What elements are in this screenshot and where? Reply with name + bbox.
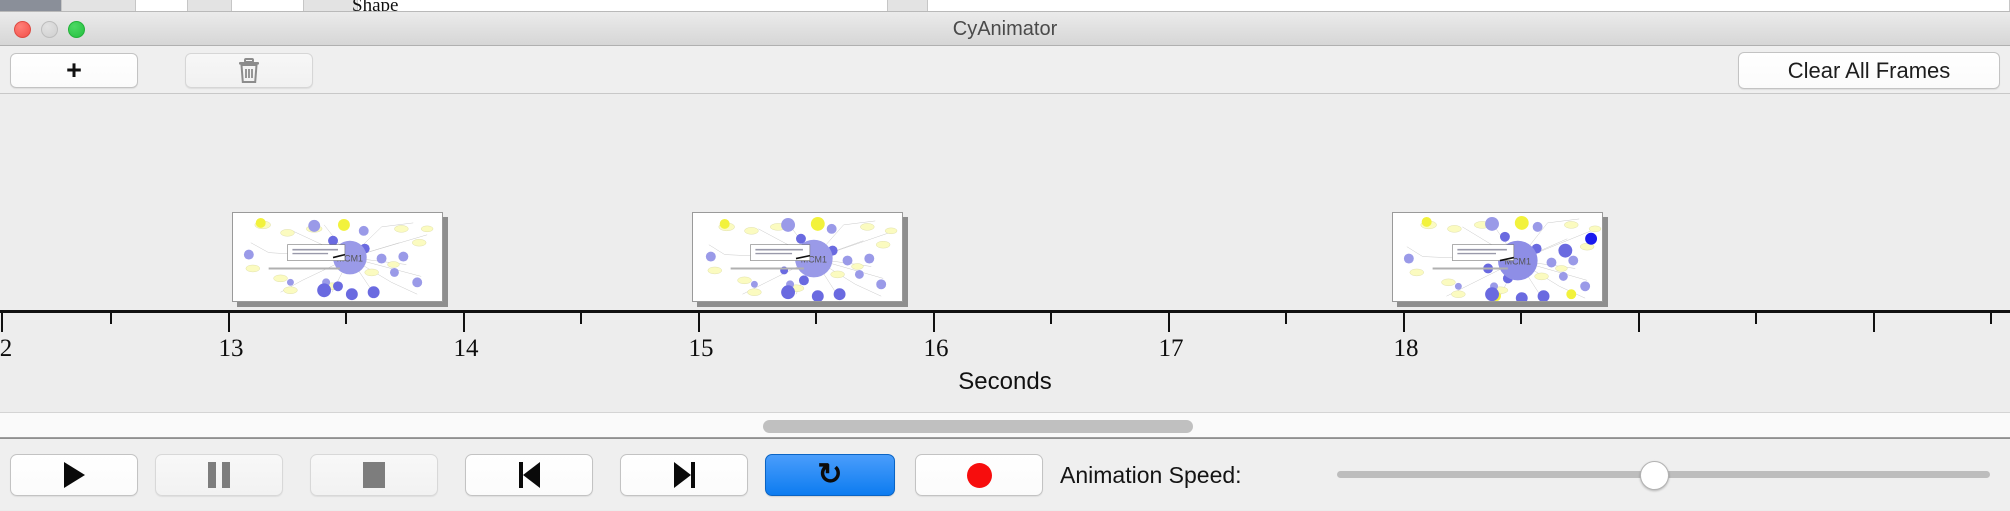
- skip-back-button[interactable]: [465, 454, 593, 496]
- record-icon: [967, 463, 992, 488]
- ruler-label: 2: [0, 335, 12, 363]
- background-chip: [304, 0, 358, 12]
- play-button[interactable]: [10, 454, 138, 496]
- background-chip: [136, 0, 188, 12]
- background-chip: [0, 0, 62, 12]
- network-graph-icon: MCM1: [233, 213, 442, 302]
- toolbar: + Clear All Frames: [0, 46, 2010, 94]
- axis-title: Seconds: [0, 368, 2010, 396]
- ruler-tick-major: [1638, 313, 1640, 332]
- stop-button[interactable]: [310, 454, 438, 496]
- network-graph-icon: MCM1: [1393, 213, 1602, 302]
- title-bar: CyAnimator: [0, 12, 2010, 46]
- ruler-tick-minor: [580, 313, 582, 324]
- ruler-tick-minor: [1755, 313, 1757, 324]
- ruler-label: 15: [689, 335, 714, 363]
- frame-thumbnail[interactable]: MCM1: [232, 212, 443, 302]
- ruler-tick-major: [1, 313, 3, 332]
- slider-thumb[interactable]: [1640, 461, 1669, 490]
- ruler-tick-major: [1873, 313, 1875, 332]
- timeline-frame[interactable]: MCM1: [232, 212, 448, 307]
- ruler-label: 13: [219, 335, 244, 363]
- record-button[interactable]: [915, 454, 1043, 496]
- clear-all-frames-button[interactable]: Clear All Frames: [1738, 52, 2000, 89]
- plus-icon: +: [66, 57, 82, 84]
- skip-backward-icon: [519, 462, 540, 488]
- network-graph-icon: MCM1: [693, 213, 902, 302]
- frame-thumbnail[interactable]: MCM1: [692, 212, 903, 302]
- background-window-strip: Shape: [0, 0, 2010, 12]
- ruler-tick-major: [1403, 313, 1405, 332]
- ruler-tick-major: [228, 313, 230, 332]
- trash-icon: [236, 57, 262, 85]
- ruler-tick-minor: [345, 313, 347, 324]
- background-chip: [232, 0, 304, 12]
- ruler-tick-minor: [1520, 313, 1522, 324]
- timeline-frame[interactable]: MCM1: [692, 212, 908, 307]
- time-ruler: 2 13 14 15 16 17 18 Seconds: [0, 310, 2010, 412]
- playback-bar: ↻ Animation Speed:: [0, 438, 2010, 510]
- add-frame-button[interactable]: +: [10, 53, 138, 88]
- skip-forward-button[interactable]: [620, 454, 748, 496]
- background-chip: [888, 0, 928, 12]
- play-icon: [64, 462, 85, 488]
- background-chip: [188, 0, 232, 12]
- ruler-tick-major: [698, 313, 700, 332]
- ruler-label: 14: [454, 335, 479, 363]
- ruler-tick-minor: [815, 313, 817, 324]
- delete-frame-button[interactable]: [185, 53, 313, 88]
- ruler-tick-minor: [1990, 313, 1992, 324]
- window-title: CyAnimator: [0, 12, 2010, 46]
- stop-icon: [363, 462, 385, 488]
- animation-speed-label: Animation Speed:: [1060, 439, 1242, 511]
- ruler-tick-major: [1168, 313, 1170, 332]
- scrollbar-thumb[interactable]: [763, 420, 1193, 433]
- pause-icon: [208, 462, 230, 488]
- ruler-tick-minor: [1050, 313, 1052, 324]
- background-chip: [358, 0, 888, 12]
- pause-button[interactable]: [155, 454, 283, 496]
- ruler-label: 18: [1394, 335, 1419, 363]
- frame-timeline-canvas[interactable]: MCM1: [0, 94, 2010, 412]
- animation-speed-slider[interactable]: [1337, 439, 1990, 511]
- background-chip: [928, 0, 2010, 12]
- ruler-tick-major: [463, 313, 465, 332]
- loop-button[interactable]: ↻: [765, 454, 895, 496]
- ruler-tick-minor: [1285, 313, 1287, 324]
- ruler-label: 16: [924, 335, 949, 363]
- background-chip: [62, 0, 136, 12]
- ruler-baseline: [0, 310, 2010, 313]
- background-window-label: Shape: [352, 0, 398, 12]
- timeline-frame[interactable]: MCM1: [1392, 212, 1608, 307]
- ruler-label: 17: [1159, 335, 1184, 363]
- frame-thumbnail[interactable]: MCM1: [1392, 212, 1603, 302]
- horizontal-scrollbar[interactable]: [0, 412, 2010, 438]
- frame-list: MCM1: [0, 94, 2010, 310]
- loop-icon: ↻: [817, 460, 842, 490]
- ruler-tick-major: [933, 313, 935, 332]
- ruler-tick-minor: [110, 313, 112, 324]
- skip-forward-icon: [674, 462, 695, 488]
